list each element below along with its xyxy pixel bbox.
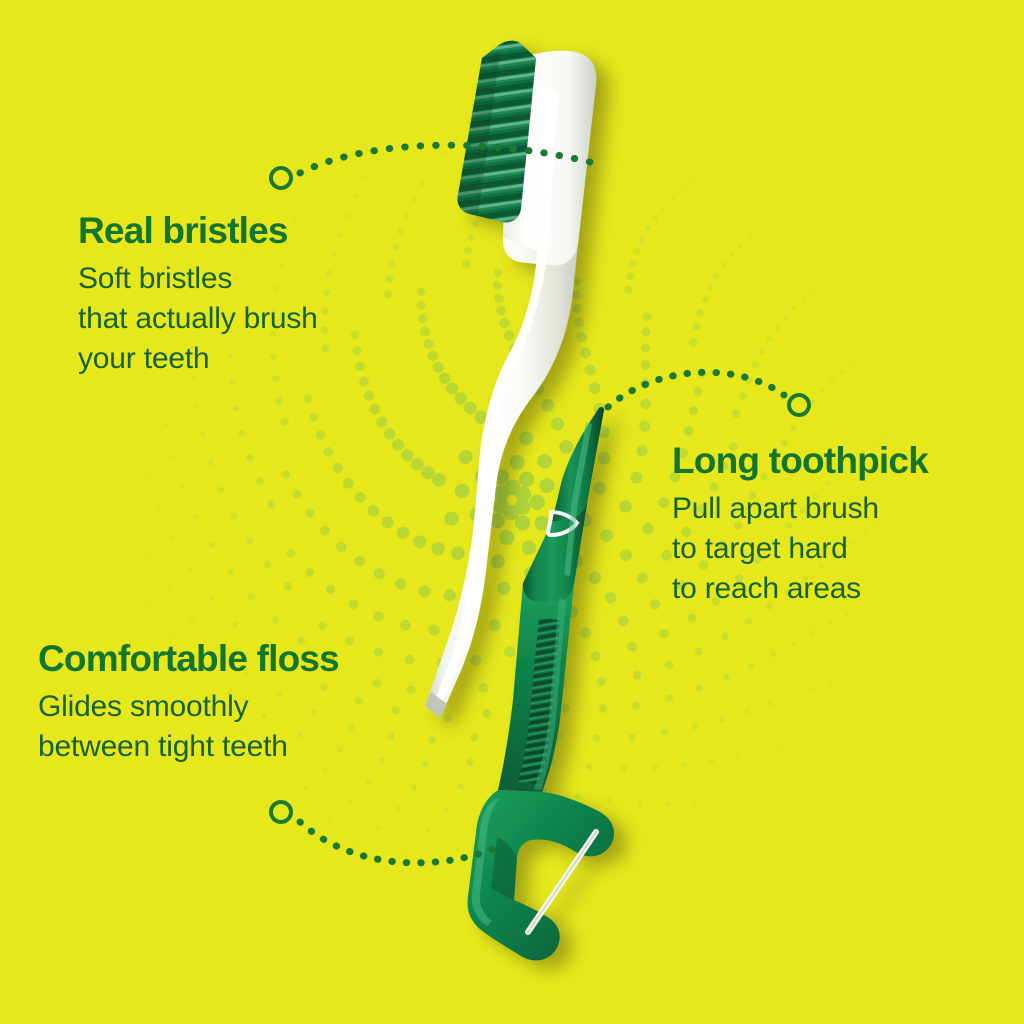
- toothpick-highlight: [564, 422, 592, 576]
- bristle-head-group: [458, 41, 536, 223]
- callout-heading-real-bristles: Real bristles: [78, 212, 318, 251]
- floss-fork: [468, 790, 615, 960]
- toothpick-group: [523, 407, 604, 604]
- connector-arc-top-left: [260, 140, 660, 230]
- callout-real-bristles: Real bristles Soft bristles that actuall…: [78, 212, 318, 379]
- fork-inner-shadow: [491, 838, 517, 900]
- toothpick-collar: [548, 512, 577, 535]
- floss-thread: [528, 832, 596, 932]
- callout-comfortable-floss: Comfortable floss Glides smoothly betwee…: [38, 640, 339, 767]
- bristle-edge-shade: [458, 52, 500, 216]
- floss-grip-body: [498, 583, 574, 792]
- brush-handle: [425, 238, 578, 718]
- brush-handle-group: [425, 51, 596, 718]
- bristle-rows: [458, 41, 536, 223]
- toothpick-tip: [552, 407, 604, 522]
- handle-cut-edge: [425, 692, 447, 718]
- floss-thread-shade: [528, 832, 596, 932]
- callout-heading-comfortable-floss: Comfortable floss: [38, 640, 339, 679]
- bristle-head: [458, 41, 536, 223]
- connector-ring-icon: [271, 168, 291, 188]
- callout-heading-long-toothpick: Long toothpick: [672, 442, 928, 481]
- fork-highlight: [472, 798, 500, 926]
- product-infographic: Real bristles Soft bristles that actuall…: [0, 0, 1024, 1024]
- connector-dots: [300, 822, 505, 863]
- floss-pick-group: [468, 583, 615, 960]
- connector-ring-icon: [789, 395, 809, 415]
- toothpick-shaft: [523, 498, 588, 604]
- callout-body-long-toothpick: Pull apart brush to target hard to reach…: [672, 489, 928, 609]
- connector-dots: [608, 372, 784, 407]
- connector-ring-icon: [271, 802, 291, 822]
- callout-body-real-bristles: Soft bristles that actually brush your t…: [78, 259, 318, 379]
- handle-highlight: [432, 88, 558, 712]
- connector-arc-bottom-left: [260, 790, 550, 880]
- brush-back: [503, 51, 596, 266]
- floss-grip-ribs: [518, 618, 560, 784]
- floss-grip-highlight: [534, 598, 566, 790]
- callout-long-toothpick: Long toothpick Pull apart brush to targe…: [672, 442, 928, 609]
- connector-dots: [300, 145, 590, 173]
- callout-body-comfortable-floss: Glides smoothly between tight teeth: [38, 687, 339, 767]
